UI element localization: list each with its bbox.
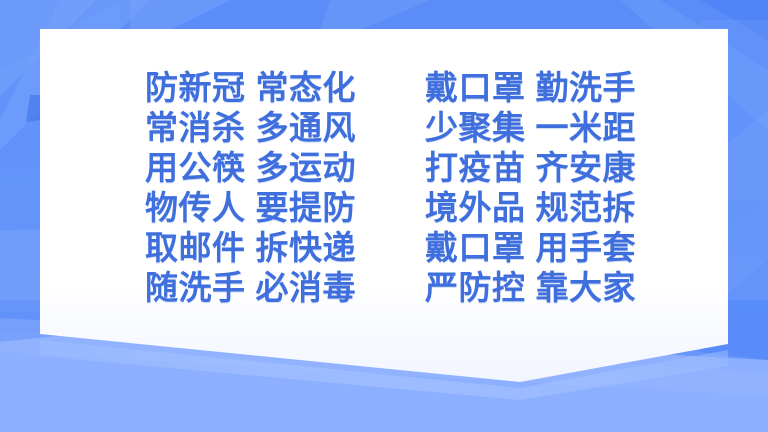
slogan-right-1a: 戴口罩 xyxy=(425,69,526,106)
slogan-row: 物传人要提防 境外品规范拆 xyxy=(145,188,665,228)
poster-canvas: 防新冠常态化 戴口罩勤洗手 常消杀多通风 少聚集一米距 用公筷多运动 打疫苗齐安… xyxy=(0,0,768,432)
slogan-left-1: 防新冠常态化 xyxy=(145,68,425,108)
slogan-left-6a: 随洗手 xyxy=(145,269,246,306)
slogan-right-5b: 用手套 xyxy=(536,229,637,266)
slogan-left-2b: 多通风 xyxy=(256,109,357,146)
slogan-right-2a: 少聚集 xyxy=(425,109,526,146)
slogan-left-5b: 拆快递 xyxy=(256,229,357,266)
slogan-left-4b: 要提防 xyxy=(256,189,357,226)
slogan-right-1b: 勤洗手 xyxy=(536,69,637,106)
slogan-row: 常消杀多通风 少聚集一米距 xyxy=(145,108,665,148)
slogan-right-1: 戴口罩勤洗手 xyxy=(425,68,665,108)
slogan-row: 用公筷多运动 打疫苗齐安康 xyxy=(145,148,665,188)
slogan-left-4a: 物传人 xyxy=(145,189,246,226)
slogan-right-6a: 严防控 xyxy=(425,269,526,306)
slogan-right-3b: 齐安康 xyxy=(536,149,637,186)
slogan-right-4: 境外品规范拆 xyxy=(425,188,665,228)
slogan-right-6b: 靠大家 xyxy=(536,269,637,306)
slogan-block: 防新冠常态化 戴口罩勤洗手 常消杀多通风 少聚集一米距 用公筷多运动 打疫苗齐安… xyxy=(145,68,665,308)
slogan-left-3b: 多运动 xyxy=(256,149,357,186)
slogan-left-3a: 用公筷 xyxy=(145,149,246,186)
slogan-row: 防新冠常态化 戴口罩勤洗手 xyxy=(145,68,665,108)
slogan-right-4b: 规范拆 xyxy=(536,189,637,226)
slogan-right-5a: 戴口罩 xyxy=(425,229,526,266)
slogan-left-1a: 防新冠 xyxy=(145,69,246,106)
slogan-row: 随洗手必消毒 严防控靠大家 xyxy=(145,268,665,308)
slogan-left-3: 用公筷多运动 xyxy=(145,148,425,188)
slogan-left-2: 常消杀多通风 xyxy=(145,108,425,148)
slogan-right-2: 少聚集一米距 xyxy=(425,108,665,148)
slogan-right-5: 戴口罩用手套 xyxy=(425,228,665,268)
slogan-left-6: 随洗手必消毒 xyxy=(145,268,425,308)
slogan-right-6: 严防控靠大家 xyxy=(425,268,665,308)
slogan-right-3a: 打疫苗 xyxy=(425,149,526,186)
slogan-right-4a: 境外品 xyxy=(425,189,526,226)
slogan-row: 取邮件拆快递 戴口罩用手套 xyxy=(145,228,665,268)
slogan-right-3: 打疫苗齐安康 xyxy=(425,148,665,188)
slogan-left-2a: 常消杀 xyxy=(145,109,246,146)
slogan-left-5: 取邮件拆快递 xyxy=(145,228,425,268)
slogan-left-6b: 必消毒 xyxy=(256,269,357,306)
slogan-left-1b: 常态化 xyxy=(256,69,357,106)
slogan-left-4: 物传人要提防 xyxy=(145,188,425,228)
slogan-right-2b: 一米距 xyxy=(536,109,637,146)
slogan-left-5a: 取邮件 xyxy=(145,229,246,266)
